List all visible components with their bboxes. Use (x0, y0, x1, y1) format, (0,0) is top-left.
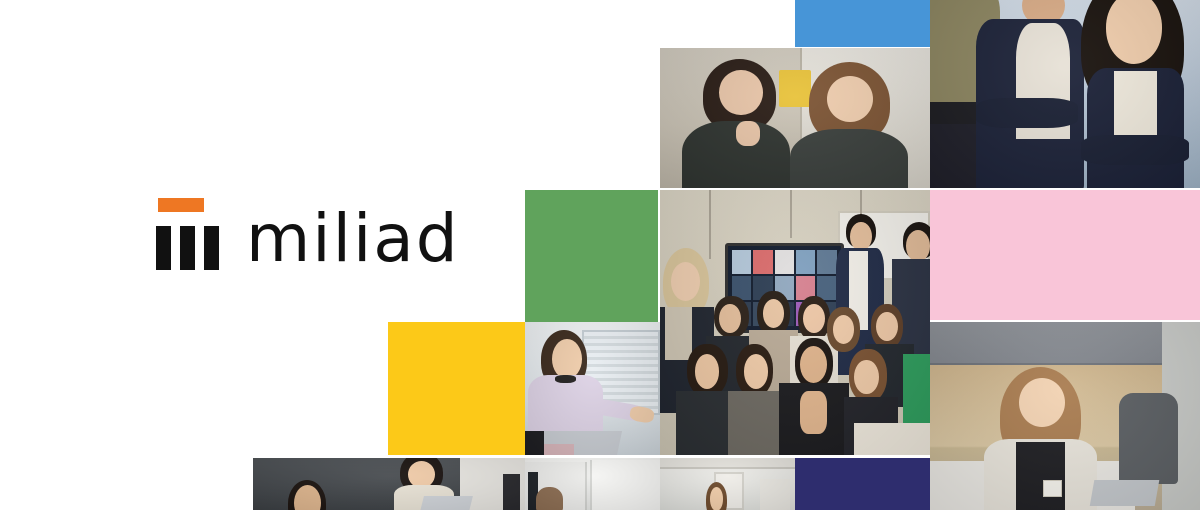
miliad-logomark-icon (156, 198, 220, 270)
color-block-green (525, 190, 658, 322)
logomark-bar-1 (156, 226, 171, 270)
color-block-navy (795, 458, 930, 510)
logomark-bar-3 (204, 226, 219, 270)
photo-woman-presenting-laptop (525, 322, 660, 455)
logomark-vertical-bars (156, 226, 220, 270)
photo-two-women-peace-sign (660, 48, 930, 188)
color-block-yellow (388, 322, 525, 455)
photo-colleagues-arms-crossed (930, 0, 1200, 188)
page-root: miliad (0, 0, 1200, 510)
logomark-bar-2 (180, 226, 195, 270)
photo-woman-at-desk (930, 322, 1200, 510)
photo-meeting-room (660, 458, 795, 510)
photo-pair-reviewing-laptop (253, 458, 525, 510)
brand-lockup: miliad (156, 198, 460, 270)
photo-team-group-hybrid-meeting (660, 190, 930, 455)
color-block-pink (930, 190, 1200, 320)
logomark-accent-bar (158, 198, 204, 212)
photo-office-booths (525, 458, 660, 510)
brand-wordmark: miliad (246, 211, 460, 270)
color-block-blue (795, 0, 930, 47)
